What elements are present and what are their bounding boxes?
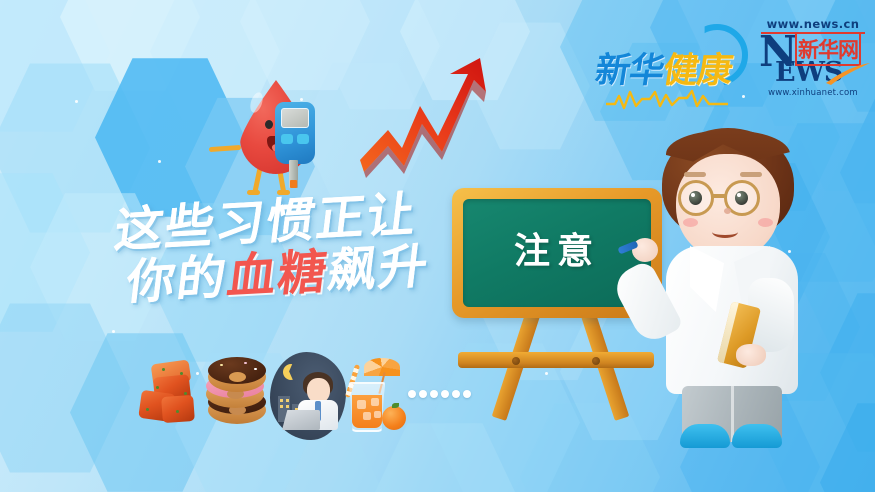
habit-icon-row	[132, 352, 477, 444]
doctor-brow-right	[740, 172, 762, 177]
doctor-shoe-left	[680, 424, 730, 448]
glucose-meter	[275, 102, 317, 188]
laptop-icon	[282, 410, 320, 430]
sprinkle-6	[254, 368, 257, 370]
ellipsis-dots	[408, 390, 471, 398]
cartoon-doctor	[636, 128, 841, 440]
pork-cube-3	[161, 395, 195, 423]
doctor-brow-left	[684, 172, 706, 177]
hex-node-dot	[112, 330, 115, 333]
meter-strip-tip	[290, 180, 297, 188]
doctor-eye-glint-right	[737, 193, 741, 197]
cocktail-umbrella-icon	[364, 358, 400, 376]
doctor-smile	[712, 226, 738, 238]
juice-glass	[348, 382, 386, 432]
doctor-shoe-right	[732, 424, 782, 448]
ellipsis-dot	[441, 390, 449, 398]
doctor-eye-glint-left	[691, 193, 695, 197]
pork-herb-4	[184, 392, 187, 395]
ice-cube-4	[374, 411, 381, 418]
orange-fruit-icon	[382, 406, 406, 430]
meter-button-left[interactable]	[281, 134, 293, 144]
drop-arm-left	[209, 145, 241, 152]
sprinkle-5	[244, 362, 247, 364]
ellipsis-dot	[408, 390, 416, 398]
ice-cube-1	[357, 400, 366, 409]
brand-health-gold: 健康	[660, 51, 734, 91]
news-url-bottom: www.xinhuanet.com	[759, 88, 867, 98]
heartbeat-line-icon	[606, 86, 728, 112]
page-title: 这些习惯正让 你的血糖飙升	[105, 187, 438, 311]
hex-node-dot	[75, 100, 78, 103]
ellipsis-dot	[430, 390, 438, 398]
window-2	[286, 399, 289, 402]
pork-herb-6	[176, 410, 179, 413]
hex-node-dot	[158, 160, 161, 163]
xinhuanet-logo: www.news.cn N EWS 新华网 www.xinhuanet.com	[757, 16, 869, 104]
sprinkle-4	[220, 364, 223, 366]
doctor-hand-right	[736, 344, 766, 366]
doctor-nose	[724, 208, 731, 214]
doctor-cheek-left	[683, 218, 698, 227]
meter-test-strip	[289, 160, 298, 188]
easel-stand	[452, 312, 662, 432]
donut-top	[208, 362, 266, 392]
easel-crossbar	[458, 352, 654, 368]
headline-line2-suffix: 飙升	[325, 238, 433, 299]
poster-canvas: 新华健康 www.news.cn N EWS 新华网 www.xinhuanet…	[0, 0, 875, 492]
meter-screen	[281, 108, 309, 128]
ice-cube-2	[371, 398, 379, 406]
pork-herb-1	[162, 368, 165, 371]
doctor-cheek-right	[758, 218, 773, 227]
drop-foot-left	[247, 190, 260, 195]
drop-foot-right	[277, 190, 290, 195]
xinhua-health-logo: 新华健康	[592, 20, 752, 108]
meter-button-right[interactable]	[297, 134, 309, 144]
ellipsis-dot	[419, 390, 427, 398]
pork-herb-3	[156, 386, 159, 389]
orange-leaf	[392, 403, 399, 408]
donut-stack-icon	[200, 352, 276, 440]
sugary-juice-icon	[334, 352, 410, 440]
pork-herb-5	[146, 408, 149, 411]
headline-highlight: 血糖	[224, 244, 332, 305]
easel-peg-right	[592, 357, 600, 365]
rising-zigzag-arrow	[358, 48, 494, 194]
drop-eye-left	[265, 120, 273, 129]
donut-top-hole	[229, 372, 246, 382]
window-3	[280, 405, 283, 408]
ellipsis-dot	[452, 390, 460, 398]
blood-drop-character	[213, 74, 338, 196]
ellipsis-dot	[463, 390, 471, 398]
ice-cube-3	[363, 412, 371, 420]
brand-health-blue: 新华	[592, 51, 666, 91]
braised-pork-icon	[132, 352, 208, 440]
orange-juice	[352, 395, 382, 428]
pork-herb-2	[180, 372, 183, 375]
window-1	[280, 399, 283, 402]
headline-line2-prefix: 你的	[123, 249, 231, 310]
window-4	[286, 405, 289, 408]
orange-swoosh-icon	[825, 62, 871, 86]
easel-peg-left	[512, 357, 520, 365]
doctor-glasses-bridge	[711, 194, 726, 198]
